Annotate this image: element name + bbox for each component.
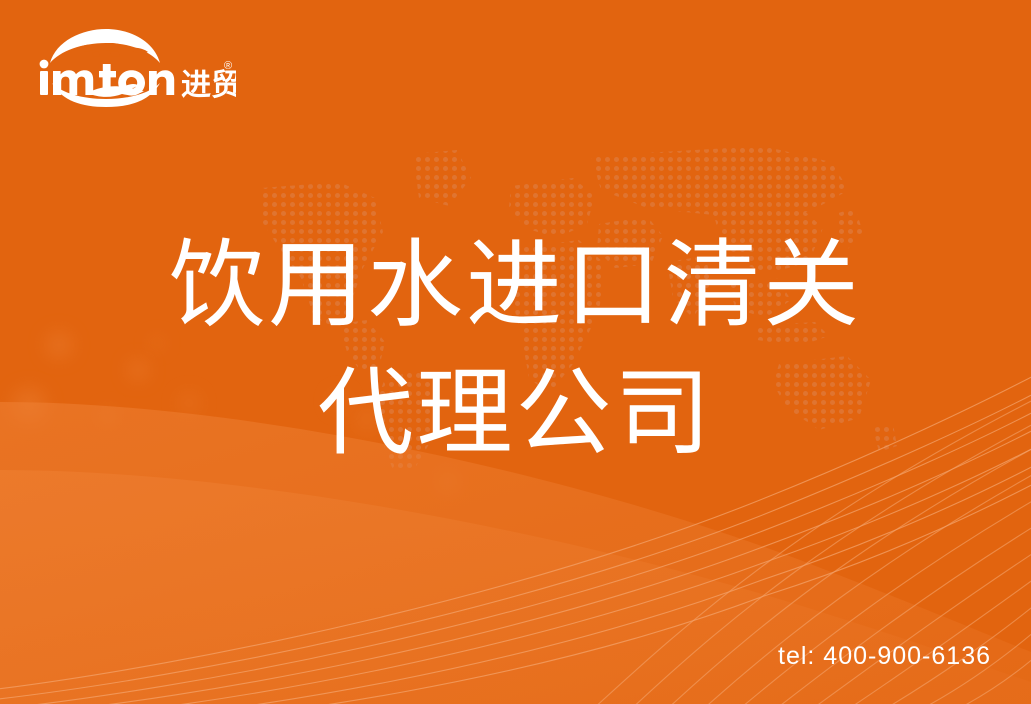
headline-line-1: 饮用水进口清关: [0, 222, 1031, 350]
logo-chinese-name: 进贸通: [181, 69, 236, 102]
registered-trademark-icon: ®: [224, 60, 232, 72]
page-title: 饮用水进口清关 代理公司: [0, 222, 1031, 478]
globe-arc-icon: [50, 29, 160, 63]
headline-line-2: 代理公司: [0, 350, 1031, 478]
logo[interactable]: 进贸通 ®: [36, 27, 236, 109]
contact-phone[interactable]: tel: 400-900-6136: [778, 642, 991, 671]
promo-banner: 进贸通 ® 饮用水进口清关 代理公司 tel: 400-900-6136: [0, 0, 1031, 704]
logo-wordmark: [40, 60, 175, 96]
